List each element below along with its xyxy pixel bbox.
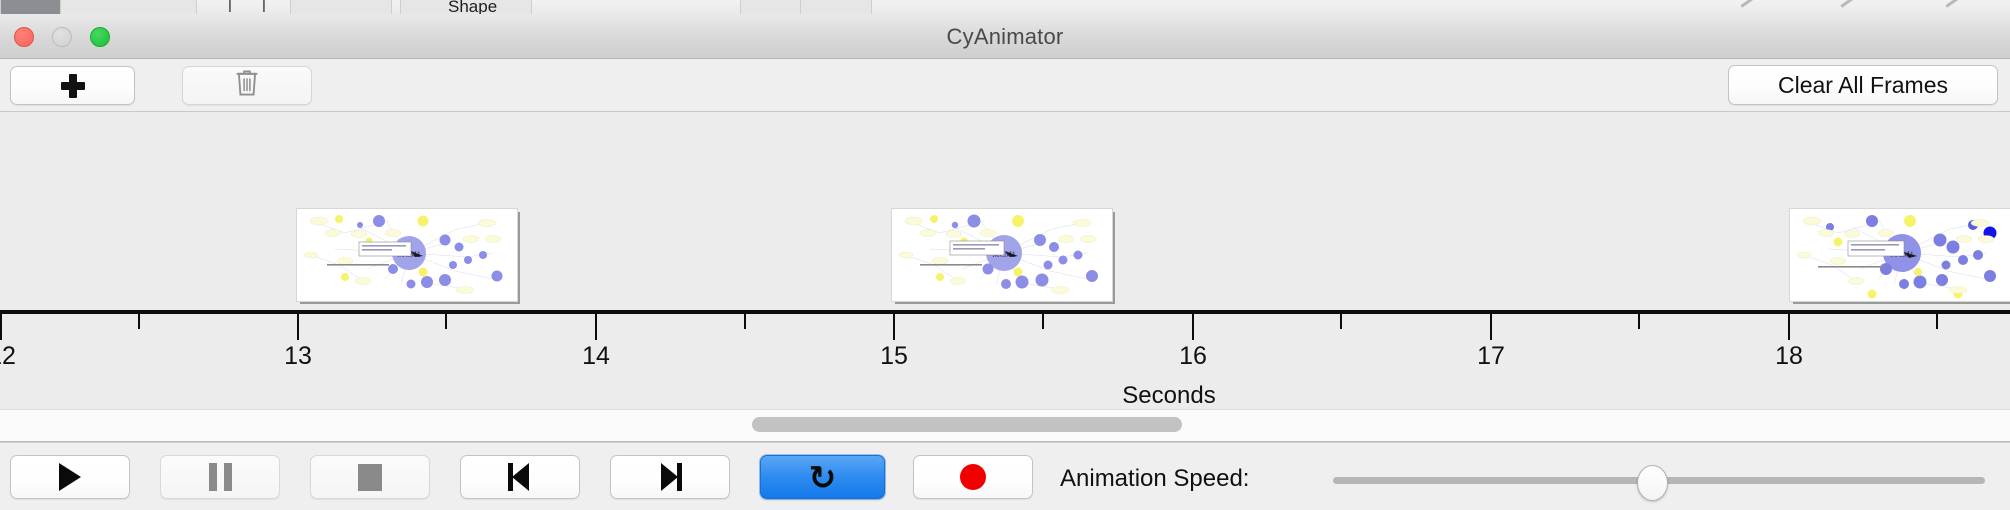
previous-frame-button[interactable] bbox=[460, 455, 580, 499]
axis-tick-major bbox=[297, 314, 299, 340]
bg-slash bbox=[1840, 0, 1853, 8]
window-title: CyAnimator bbox=[0, 24, 2010, 50]
bg-slash bbox=[1945, 0, 1958, 8]
thumbnail-image: MCM1 bbox=[891, 208, 1113, 302]
network-graph: MCM1 bbox=[892, 209, 1110, 299]
bg-chip bbox=[60, 0, 197, 14]
network-graph: MCM1 bbox=[297, 209, 515, 299]
thumbnail-image: MCM1 bbox=[1789, 208, 2010, 302]
axis-tick-major bbox=[1192, 314, 1194, 340]
skip-forward-icon bbox=[658, 463, 682, 491]
clear-all-frames-button[interactable]: Clear All Frames bbox=[1728, 65, 1998, 105]
axis-tick-label: 18 bbox=[1775, 342, 1803, 371]
toolbar: Clear All Frames bbox=[0, 59, 2010, 112]
play-icon bbox=[59, 463, 81, 491]
axis-tick-label: 13 bbox=[284, 342, 312, 371]
stop-button[interactable] bbox=[310, 455, 430, 499]
bg-glyph: | bbox=[228, 0, 232, 13]
play-button[interactable] bbox=[10, 455, 130, 499]
axis-tick-major bbox=[1490, 314, 1492, 340]
bg-chip bbox=[800, 0, 872, 14]
stop-icon bbox=[358, 464, 382, 491]
cyanimator-window: | | Shape CyAnimator bbox=[0, 0, 2010, 510]
bg-chip bbox=[740, 0, 802, 14]
axis-tick-label: 16 bbox=[1179, 342, 1207, 371]
axis-tick-minor bbox=[138, 314, 140, 329]
bg-chip bbox=[0, 0, 62, 14]
axis-title: Seconds bbox=[0, 382, 2010, 410]
axis-tick-major bbox=[893, 314, 895, 340]
clear-all-frames-label: Clear All Frames bbox=[1778, 72, 1948, 99]
plus-icon bbox=[60, 73, 86, 99]
title-bar: CyAnimator bbox=[0, 14, 2010, 59]
bg-glyph: | bbox=[262, 0, 266, 13]
trash-icon bbox=[233, 68, 261, 103]
thumbnail-image: MCM1 bbox=[296, 208, 518, 302]
bg-slash bbox=[1740, 0, 1753, 8]
next-frame-button[interactable] bbox=[610, 455, 730, 499]
timeline-scrollbar[interactable] bbox=[0, 409, 2010, 442]
axis-title-text: Seconds bbox=[1122, 382, 1215, 409]
skip-back-icon bbox=[508, 463, 532, 491]
axis-tick-minor bbox=[1340, 314, 1342, 329]
animation-speed-label: Animation Speed: bbox=[1060, 465, 1249, 493]
record-icon bbox=[960, 464, 986, 490]
axis-tick-minor bbox=[744, 314, 746, 329]
bg-window-title: Shape bbox=[448, 0, 497, 14]
axis-tick-label: 17 bbox=[1477, 342, 1505, 371]
keyframe-thumbnail[interactable]: MCM1 bbox=[891, 208, 1111, 300]
bg-chip bbox=[290, 0, 392, 14]
loop-button[interactable]: ↻ bbox=[760, 455, 885, 499]
axis-tick-label: 12 bbox=[0, 342, 16, 371]
loop-icon: ↻ bbox=[809, 461, 837, 494]
axis-tick-minor bbox=[445, 314, 447, 329]
scrollbar-thumb[interactable] bbox=[752, 417, 1182, 432]
pause-button[interactable] bbox=[160, 455, 280, 499]
axis-tick-minor bbox=[1042, 314, 1044, 329]
add-frame-button[interactable] bbox=[10, 66, 135, 105]
keyframe-thumbnail[interactable]: MCM1 bbox=[296, 208, 516, 300]
axis-tick-label: 15 bbox=[880, 342, 908, 371]
background-window-strip: | | Shape bbox=[0, 0, 2010, 14]
playback-controls: ↻ Animation Speed: bbox=[0, 442, 2010, 510]
keyframe-thumbnail[interactable]: MCM1 bbox=[1789, 208, 2009, 300]
axis-tick-major bbox=[0, 314, 2, 340]
axis-tick-label: 14 bbox=[582, 342, 610, 371]
axis-tick-major bbox=[1788, 314, 1790, 340]
timeline-axis bbox=[0, 310, 2010, 314]
axis-tick-major bbox=[595, 314, 597, 340]
animation-speed-slider-thumb[interactable] bbox=[1637, 465, 1668, 501]
record-button[interactable] bbox=[913, 455, 1033, 499]
axis-tick-minor bbox=[1936, 314, 1938, 329]
pause-icon bbox=[209, 463, 232, 491]
axis-tick-minor bbox=[1638, 314, 1640, 329]
delete-frame-button[interactable] bbox=[182, 66, 312, 105]
network-graph: MCM1 bbox=[1790, 209, 2008, 299]
